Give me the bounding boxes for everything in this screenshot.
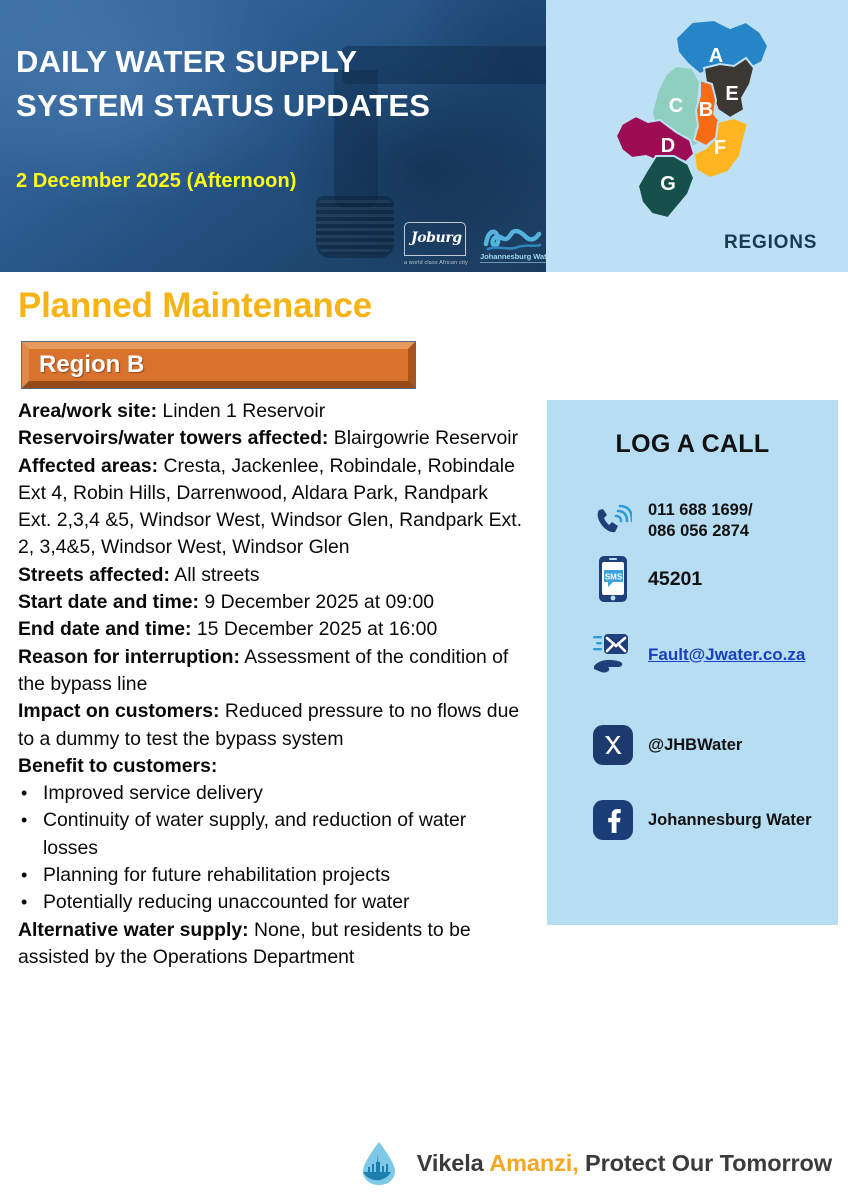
water-wave-icon (482, 224, 544, 252)
detail-start-value: 9 December 2025 at 09:00 (204, 591, 434, 613)
benefit-list: Improved service delivery Continuity of … (18, 780, 526, 916)
svg-text:D: D (661, 135, 675, 157)
regions-map-panel: A C E B F D G REGIONS (546, 0, 848, 272)
detail-reservoirs-label: Reservoirs/water towers affected: (18, 427, 328, 449)
maintenance-details: Area/work site: Linden 1 Reservoir Reser… (18, 398, 526, 971)
svg-text:C: C (669, 95, 683, 117)
region-badge: Region B (22, 342, 415, 388)
detail-end-value: 15 December 2025 at 16:00 (197, 618, 437, 640)
detail-impact: Impact on customers: Reduced pressure to… (18, 698, 526, 753)
contact-sms-value: 45201 (648, 569, 702, 590)
detail-end-label: End date and time: (18, 618, 191, 640)
joburg-logo-wordmark: Joburg (411, 230, 462, 246)
region-badge-label: Region B (39, 351, 144, 379)
contact-facebook-value: Johannesburg Water (648, 810, 812, 831)
svg-text:E: E (725, 83, 738, 105)
contact-twitter-value: @JHBWater (648, 735, 742, 756)
detail-streets: Streets affected: All streets (18, 562, 526, 589)
log-a-call-panel: LOG A CALL 011 688 1699/ 086 056 2874 SM… (547, 400, 838, 925)
detail-benefit: Benefit to customers: (18, 753, 526, 780)
regions-map-svg: A C E B F D G (564, 6, 832, 244)
sms-phone-icon: SMS (590, 555, 636, 603)
report-date: 2 December 2025 (Afternoon) (16, 170, 297, 193)
detail-area-value: Linden 1 Reservoir (162, 400, 325, 422)
detail-reason-label: Reason for interruption: (18, 646, 240, 668)
svg-text:F: F (714, 137, 726, 159)
twitter-x-icon (590, 725, 636, 765)
contact-email-value[interactable]: Fault@Jwater.co.za (648, 644, 805, 665)
footer-slogan-accent: Amanzi, (489, 1150, 578, 1176)
detail-alternative-label: Alternative water supply: (18, 919, 249, 941)
detail-start: Start date and time: 9 December 2025 at … (18, 589, 526, 616)
list-item: Planning for future rehabilitation proje… (18, 862, 526, 889)
footer-slogan-before: Vikela (417, 1150, 489, 1176)
detail-start-label: Start date and time: (18, 591, 199, 613)
detail-impact-label: Impact on customers: (18, 700, 220, 722)
detail-area-label: Area/work site: (18, 400, 157, 422)
detail-affected-areas: Affected areas: Cresta, Jackenlee, Robin… (18, 453, 526, 562)
footer-slogan: Vikela Amanzi, Protect Our Tomorrow (417, 1150, 832, 1177)
contact-phone-value: 011 688 1699/ 086 056 2874 (648, 500, 753, 542)
list-item: Improved service delivery (18, 780, 526, 807)
regions-label: REGIONS (724, 232, 817, 254)
detail-area: Area/work site: Linden 1 Reservoir (18, 398, 526, 425)
page-title-line2: SYSTEM STATUS UPDATES (16, 84, 526, 128)
section-title: Planned Maintenance (18, 286, 372, 326)
detail-benefit-label: Benefit to customers: (18, 755, 217, 777)
detail-alternative: Alternative water supply: None, but resi… (18, 917, 526, 972)
facebook-icon (590, 800, 636, 840)
contact-phone-row[interactable]: 011 688 1699/ 086 056 2874 (590, 500, 753, 542)
list-item: Potentially reducing unaccounted for wat… (18, 889, 526, 916)
page-footer: Vikela Amanzi, Protect Our Tomorrow (0, 1140, 848, 1186)
detail-streets-label: Streets affected: (18, 564, 170, 586)
joburg-logo-tagline: a world class African city (404, 260, 468, 266)
contact-facebook-row[interactable]: Johannesburg Water (590, 800, 812, 840)
contact-twitter-row[interactable]: @JHBWater (590, 725, 742, 765)
joburg-logo: Joburg a world class African city (404, 222, 474, 270)
detail-reservoirs: Reservoirs/water towers affected: Blairg… (18, 425, 526, 452)
list-item: Continuity of water supply, and reductio… (18, 807, 526, 862)
log-a-call-title: LOG A CALL (547, 430, 838, 459)
svg-text:G: G (660, 173, 676, 195)
page-title: DAILY WATER SUPPLY SYSTEM STATUS UPDATES (16, 40, 526, 128)
email-envelope-hand-icon (590, 632, 636, 676)
phone-ringing-icon (590, 504, 636, 538)
svg-text:SMS: SMS (605, 573, 623, 582)
johannesburg-water-logo-name: Johannesburg Water (480, 252, 546, 263)
detail-reservoirs-value: Blairgowrie Reservoir (334, 427, 518, 449)
logo-row: Joburg a world class African city Johann… (404, 222, 546, 270)
page-title-line1: DAILY WATER SUPPLY (16, 40, 526, 84)
footer-slogan-after: Protect Our Tomorrow (579, 1150, 832, 1176)
water-droplet-city-icon (359, 1140, 399, 1186)
detail-affected-label: Affected areas: (18, 455, 158, 477)
contact-email-row[interactable]: Fault@Jwater.co.za (590, 632, 805, 676)
detail-reason: Reason for interruption: Assessment of t… (18, 644, 526, 699)
svg-text:B: B (699, 99, 713, 121)
detail-end: End date and time: 15 December 2025 at 1… (18, 616, 526, 643)
detail-streets-value: All streets (174, 564, 259, 586)
faucet-ridges-shape (316, 200, 394, 254)
johannesburg-water-logo: Johannesburg Water (480, 222, 546, 270)
contact-sms-row[interactable]: SMS 45201 (590, 555, 702, 603)
